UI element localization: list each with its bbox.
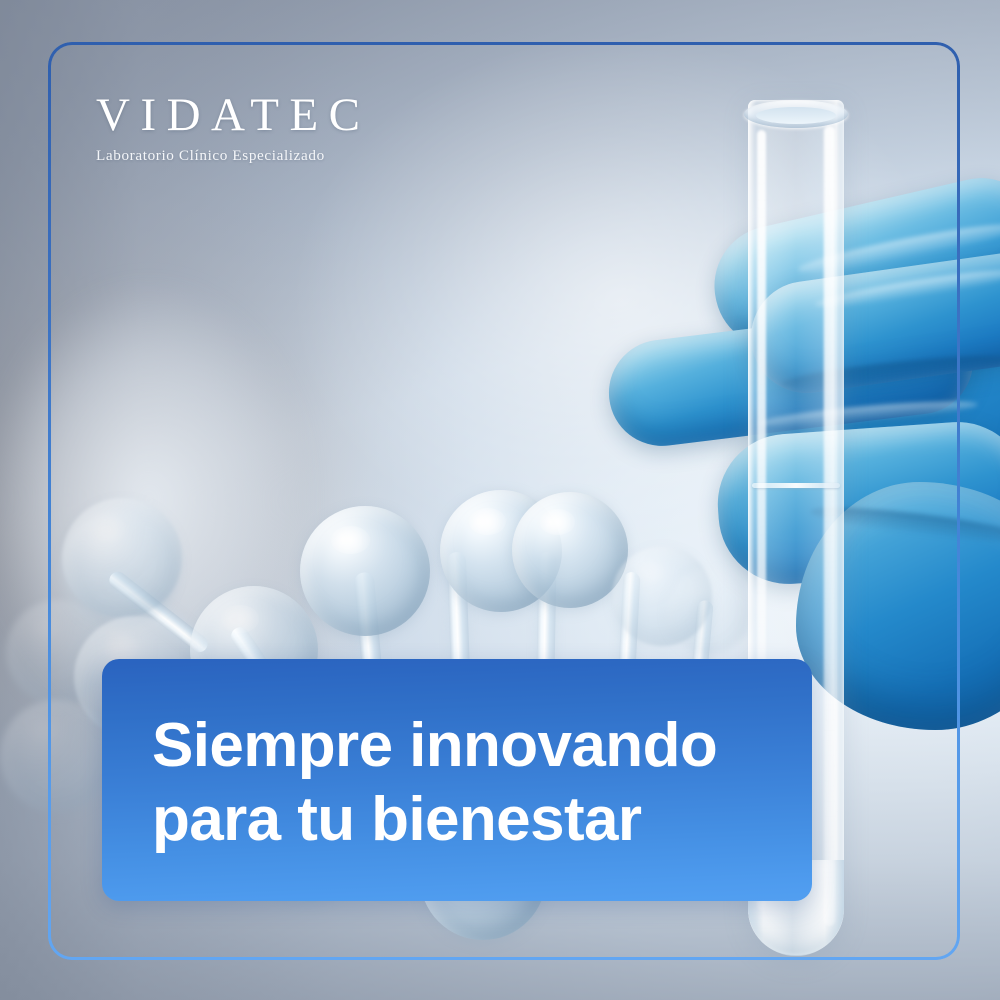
brand-logo: VIDATEC Laboratorio Clínico Especializad… <box>96 92 516 163</box>
brand-tagline: Laboratorio Clínico Especializado <box>96 148 516 163</box>
test-tube-liquid-surface <box>752 483 840 488</box>
headline-banner: Siempre innovando para tu bienestar <box>102 659 812 901</box>
test-tube-rim-inner <box>756 107 836 124</box>
promotional-graphic: VIDATEC Laboratorio Clínico Especializad… <box>0 0 1000 1000</box>
headline-line-1: Siempre innovando <box>152 709 792 783</box>
brand-name: VIDATEC <box>96 92 516 139</box>
test-tube-right-highlight <box>824 126 835 926</box>
dna-sphere <box>300 506 430 636</box>
headline-line-2: para tu bienestar <box>152 783 792 857</box>
headline-text: Siempre innovando para tu bienestar <box>152 709 792 857</box>
dna-sphere <box>62 498 182 618</box>
